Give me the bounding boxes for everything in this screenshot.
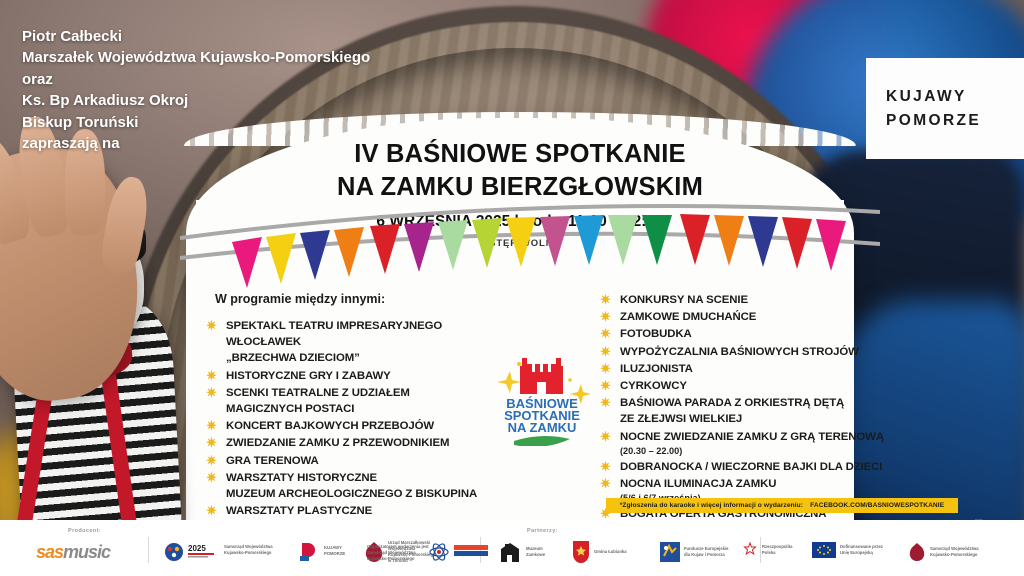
sponsor-caption-samorzad-2: Samorząd Województwa Kujawsko-Pomorskieg… (930, 546, 979, 558)
logo-castle-icon (520, 358, 563, 394)
program-item: ✷WYPOŻYCZALNIA BAŚNIOWYCH STROJÓW (600, 344, 900, 360)
invitation-line-2: Marszałek Województwa Kujawsko-Pomorskie… (22, 47, 442, 68)
star-bullet-icon: ✷ (206, 419, 219, 432)
sponsor-caption-gmina: Gmina Łubianka (594, 549, 627, 555)
sponsor-logo-dofinansowane-ue: Dofinansowane przez Unię Europejską (812, 542, 883, 558)
partners-label: Partnerzy: (527, 528, 558, 534)
program-item-label: KONKURSY NA SCENIE (620, 294, 748, 306)
star-bullet-icon: ✷ (600, 327, 613, 340)
star-bullet-icon: ✷ (600, 430, 613, 443)
star-bullet-icon: ✷ (206, 504, 219, 517)
program-item: ✷GRA TERENOWA (206, 453, 506, 469)
program-item-label: WARSZTATY PLASTYCZNE (226, 505, 372, 517)
program-item-label: SCENKI TEATRALNE Z UDZIAŁEM (226, 387, 410, 399)
program-item: ✷ZWIEDZANIE ZAMKU Z PRZEWODNIKIEM (206, 435, 506, 451)
title-line-1: IV BAŚNIOWE SPOTKANIE (186, 138, 854, 171)
program-right-column: ✷KONKURSY NA SCENIE✷ZAMKOWE DMUCHAŃCE✷FO… (600, 292, 900, 523)
program-item-label: HISTORYCZNE GRY I ZABAWY (226, 370, 391, 382)
program-item: ✷KONCERT BAJKOWYCH PRZEBOJÓW (206, 418, 506, 434)
brand-line-1: KUJAWY (886, 85, 1024, 108)
hand-finger-4 (98, 174, 152, 275)
sponsor-logo-fundusze-europejskie: Fundusze Europejskie dla Kujaw i Pomorza (660, 542, 728, 562)
program-item: ✷SCENKI TEATRALNE Z UDZIAŁEMMAGICZNYCH P… (206, 385, 506, 417)
program-item-continuation: ZE ZŁEJWSI WIELKIEJ (620, 411, 900, 427)
program-item-subtext: (20.30 – 22.00) (620, 445, 900, 458)
program-item: ✷BAŚNIOWA PARADA Z ORKIESTRĄ DĘTĄZE ZŁEJ… (600, 395, 900, 427)
sponsor-caption-kujawy: KUJAWY POMORZE (324, 545, 345, 557)
program-left-column: ✷SPEKTAKL TEATRU IMPRESARYJNEGO WŁOCŁAWE… (206, 318, 506, 537)
program-item-label: NOCNE ZWIEDZANIE ZAMKU Z GRĄ TERENOWĄ (620, 431, 884, 443)
program-item: ✷WARSZTATY PLASTYCZNE (206, 503, 506, 519)
sponsor-logo-kujawy-pomorze: KUJAWY POMORZE (298, 540, 345, 562)
program-item-label: FOTOBUDKA (620, 328, 692, 340)
sponsor-logo-samorzad-wojewodztwa: Samorząd Województwa Kujawsko-Pomorskieg… (224, 544, 273, 556)
sasmusic-logo: sasmusic (36, 542, 110, 563)
sponsor-logo-gmina-lubianka: Gmina Łubianka (572, 540, 627, 564)
sasmusic-logo-part1: sas (36, 542, 63, 562)
star-bullet-icon: ✷ (600, 293, 613, 306)
poster-canvas: Piotr Całbecki Marszałek Województwa Kuj… (0, 0, 1024, 576)
program-item-label: NOCNA ILUMINACJA ZAMKU (620, 478, 776, 490)
program-item-continuation: MUZEUM ARCHEOLOGICZNEGO Z BISKUPINA (226, 486, 506, 502)
star-bullet-icon: ✷ (600, 460, 613, 473)
sponsor-caption-muzeum: Muzeum Zamkowe (526, 546, 545, 558)
program-item-label: ILUZJONISTA (620, 363, 693, 375)
brand-line-2: POMORZE (886, 109, 1024, 132)
sponsor-logo-organizator-text: Organizatorem wydarzenia jest Samorząd W… (367, 544, 429, 562)
program-item-label: WARSZTATY HISTORYCZNE (226, 472, 377, 484)
program-item: ✷SPEKTAKL TEATRU IMPRESARYJNEGO WŁOCŁAWE… (206, 318, 506, 367)
program-item-label: KONCERT BAJKOWYCH PRZEBOJÓW (226, 420, 434, 432)
sponsor-logo-samorzad-2: Samorząd Województwa Kujawsko-Pomorskieg… (908, 542, 979, 562)
program-item: ✷NOCNE ZWIEDZANIE ZAMKU Z GRĄ TERENOWĄ(2… (600, 429, 900, 458)
note-text: *Zgłoszenia do karaoke i więcej informac… (620, 502, 803, 509)
star-bullet-icon: ✷ (600, 379, 613, 392)
sponsor-logo-jest-nauka (428, 542, 488, 562)
star-bullet-icon: ✷ (206, 319, 219, 332)
bunting-decoration (180, 196, 880, 291)
star-bullet-icon: ✷ (600, 362, 613, 375)
sponsor-logo-2025-rok-wisly: 2025 (164, 542, 214, 562)
star-bullet-icon: ✷ (206, 471, 219, 484)
footer-divider-1 (148, 537, 149, 563)
invitation-text: Piotr Całbecki Marszałek Województwa Kuj… (22, 26, 442, 155)
invitation-line-5: Biskup Toruński (22, 112, 442, 133)
producer-label: Producent: (68, 528, 101, 534)
sponsor-logo-muzeum-zamkowe: Muzeum Zamkowe (498, 540, 545, 564)
invitation-line-1: Piotr Całbecki (22, 26, 442, 47)
karaoke-note-bar: *Zgłoszenia do karaoke i więcej informac… (606, 498, 958, 513)
kujawy-pomorze-brand-box: KUJAWY POMORZE (866, 58, 1024, 159)
star-bullet-icon: ✷ (206, 386, 219, 399)
program-item-label: DOBRANOCKA / WIECZORNE BAJKI DLA DZIECI (620, 461, 882, 473)
sponsor-caption-samorzad: Samorząd Województwa Kujawsko-Pomorskieg… (224, 544, 273, 556)
logo-green-swoosh (514, 436, 570, 446)
program-item: ✷KONKURSY NA SCENIE (600, 292, 900, 308)
program-item: ✷CYRKOWCY (600, 378, 900, 394)
program-item-label: WYPOŻYCZALNIA BAŚNIOWYCH STROJÓW (620, 346, 859, 358)
star-bullet-icon: ✷ (206, 436, 219, 449)
program-item-label: ZWIEDZANIE ZAMKU Z PRZEWODNIKIEM (226, 437, 449, 449)
program-item: ✷WARSZTATY HISTORYCZNEMUZEUM ARCHEOLOGIC… (206, 470, 506, 502)
svg-text:2025: 2025 (188, 544, 206, 553)
program-item: ✷HISTORYCZNE GRY I ZABAWY (206, 368, 506, 384)
program-item: ✷ILUZJONISTA (600, 361, 900, 377)
program-item-label: GRA TERENOWA (226, 455, 319, 467)
invitation-line-4: Ks. Bp Arkadiusz Okroj (22, 90, 442, 111)
star-bullet-icon: ✷ (600, 396, 613, 409)
program-item-label: CYRKOWCY (620, 380, 687, 392)
program-item: ✷DOBRANOCKA / WIECZORNE BAJKI DLA DZIECI (600, 459, 900, 475)
sponsor-footer: Producent: Partnerzy: sasmusic 2025 Samo… (0, 520, 1024, 576)
facebook-link[interactable]: FACEBOOK.COM/BASNIOWESPOTKANIE (810, 502, 944, 509)
event-logo-badge: BAŚNIOWE SPOTKANIE NA ZAMKU (492, 346, 592, 446)
program-item-label: SPEKTAKL TEATRU IMPRESARYJNEGO WŁOCŁAWEK (226, 320, 442, 348)
star-bullet-icon: ✷ (600, 477, 613, 490)
sasmusic-logo-part2: music (63, 542, 110, 562)
star-bullet-icon: ✷ (206, 369, 219, 382)
sponsor-logo-rzeczpospolita: Rzeczpospolita Polska (742, 542, 792, 558)
invitation-line-3: oraz (22, 69, 442, 90)
program-item-continuation: „BRZECHWA DZIECIOM” (226, 350, 506, 366)
program-item-continuation: MAGICZNYCH POSTACI (226, 401, 506, 417)
star-bullet-icon: ✷ (206, 454, 219, 467)
bunting-flags-row-1 (232, 214, 846, 288)
logo-text: BAŚNIOWE SPOTKANIE NA ZAMKU (504, 396, 580, 435)
star-bullet-icon: ✷ (600, 310, 613, 323)
program-item: ✷FOTOBUDKA (600, 326, 900, 342)
sponsor-caption-organizator: Organizatorem wydarzenia jest Samorząd W… (367, 544, 429, 562)
sponsor-caption-fundusze: Fundusze Europejskie dla Kujaw i Pomorza (684, 546, 728, 558)
program-item-label: ZAMKOWE DMUCHAŃCE (620, 311, 756, 323)
svg-text:NA ZAMKU: NA ZAMKU (508, 420, 577, 435)
program-heading: W programie między innymi: (215, 292, 385, 306)
sponsor-caption-rzeczpospolita: Rzeczpospolita Polska (762, 544, 792, 556)
mime-performer-photo (0, 150, 203, 530)
program-item: ✷ZAMKOWE DMUCHAŃCE (600, 309, 900, 325)
star-bullet-icon: ✷ (600, 345, 613, 358)
sponsor-caption-dofinansowane: Dofinansowane przez Unię Europejską (840, 544, 883, 556)
program-item-label: BAŚNIOWA PARADA Z ORKIESTRĄ DĘTĄ (620, 397, 844, 409)
